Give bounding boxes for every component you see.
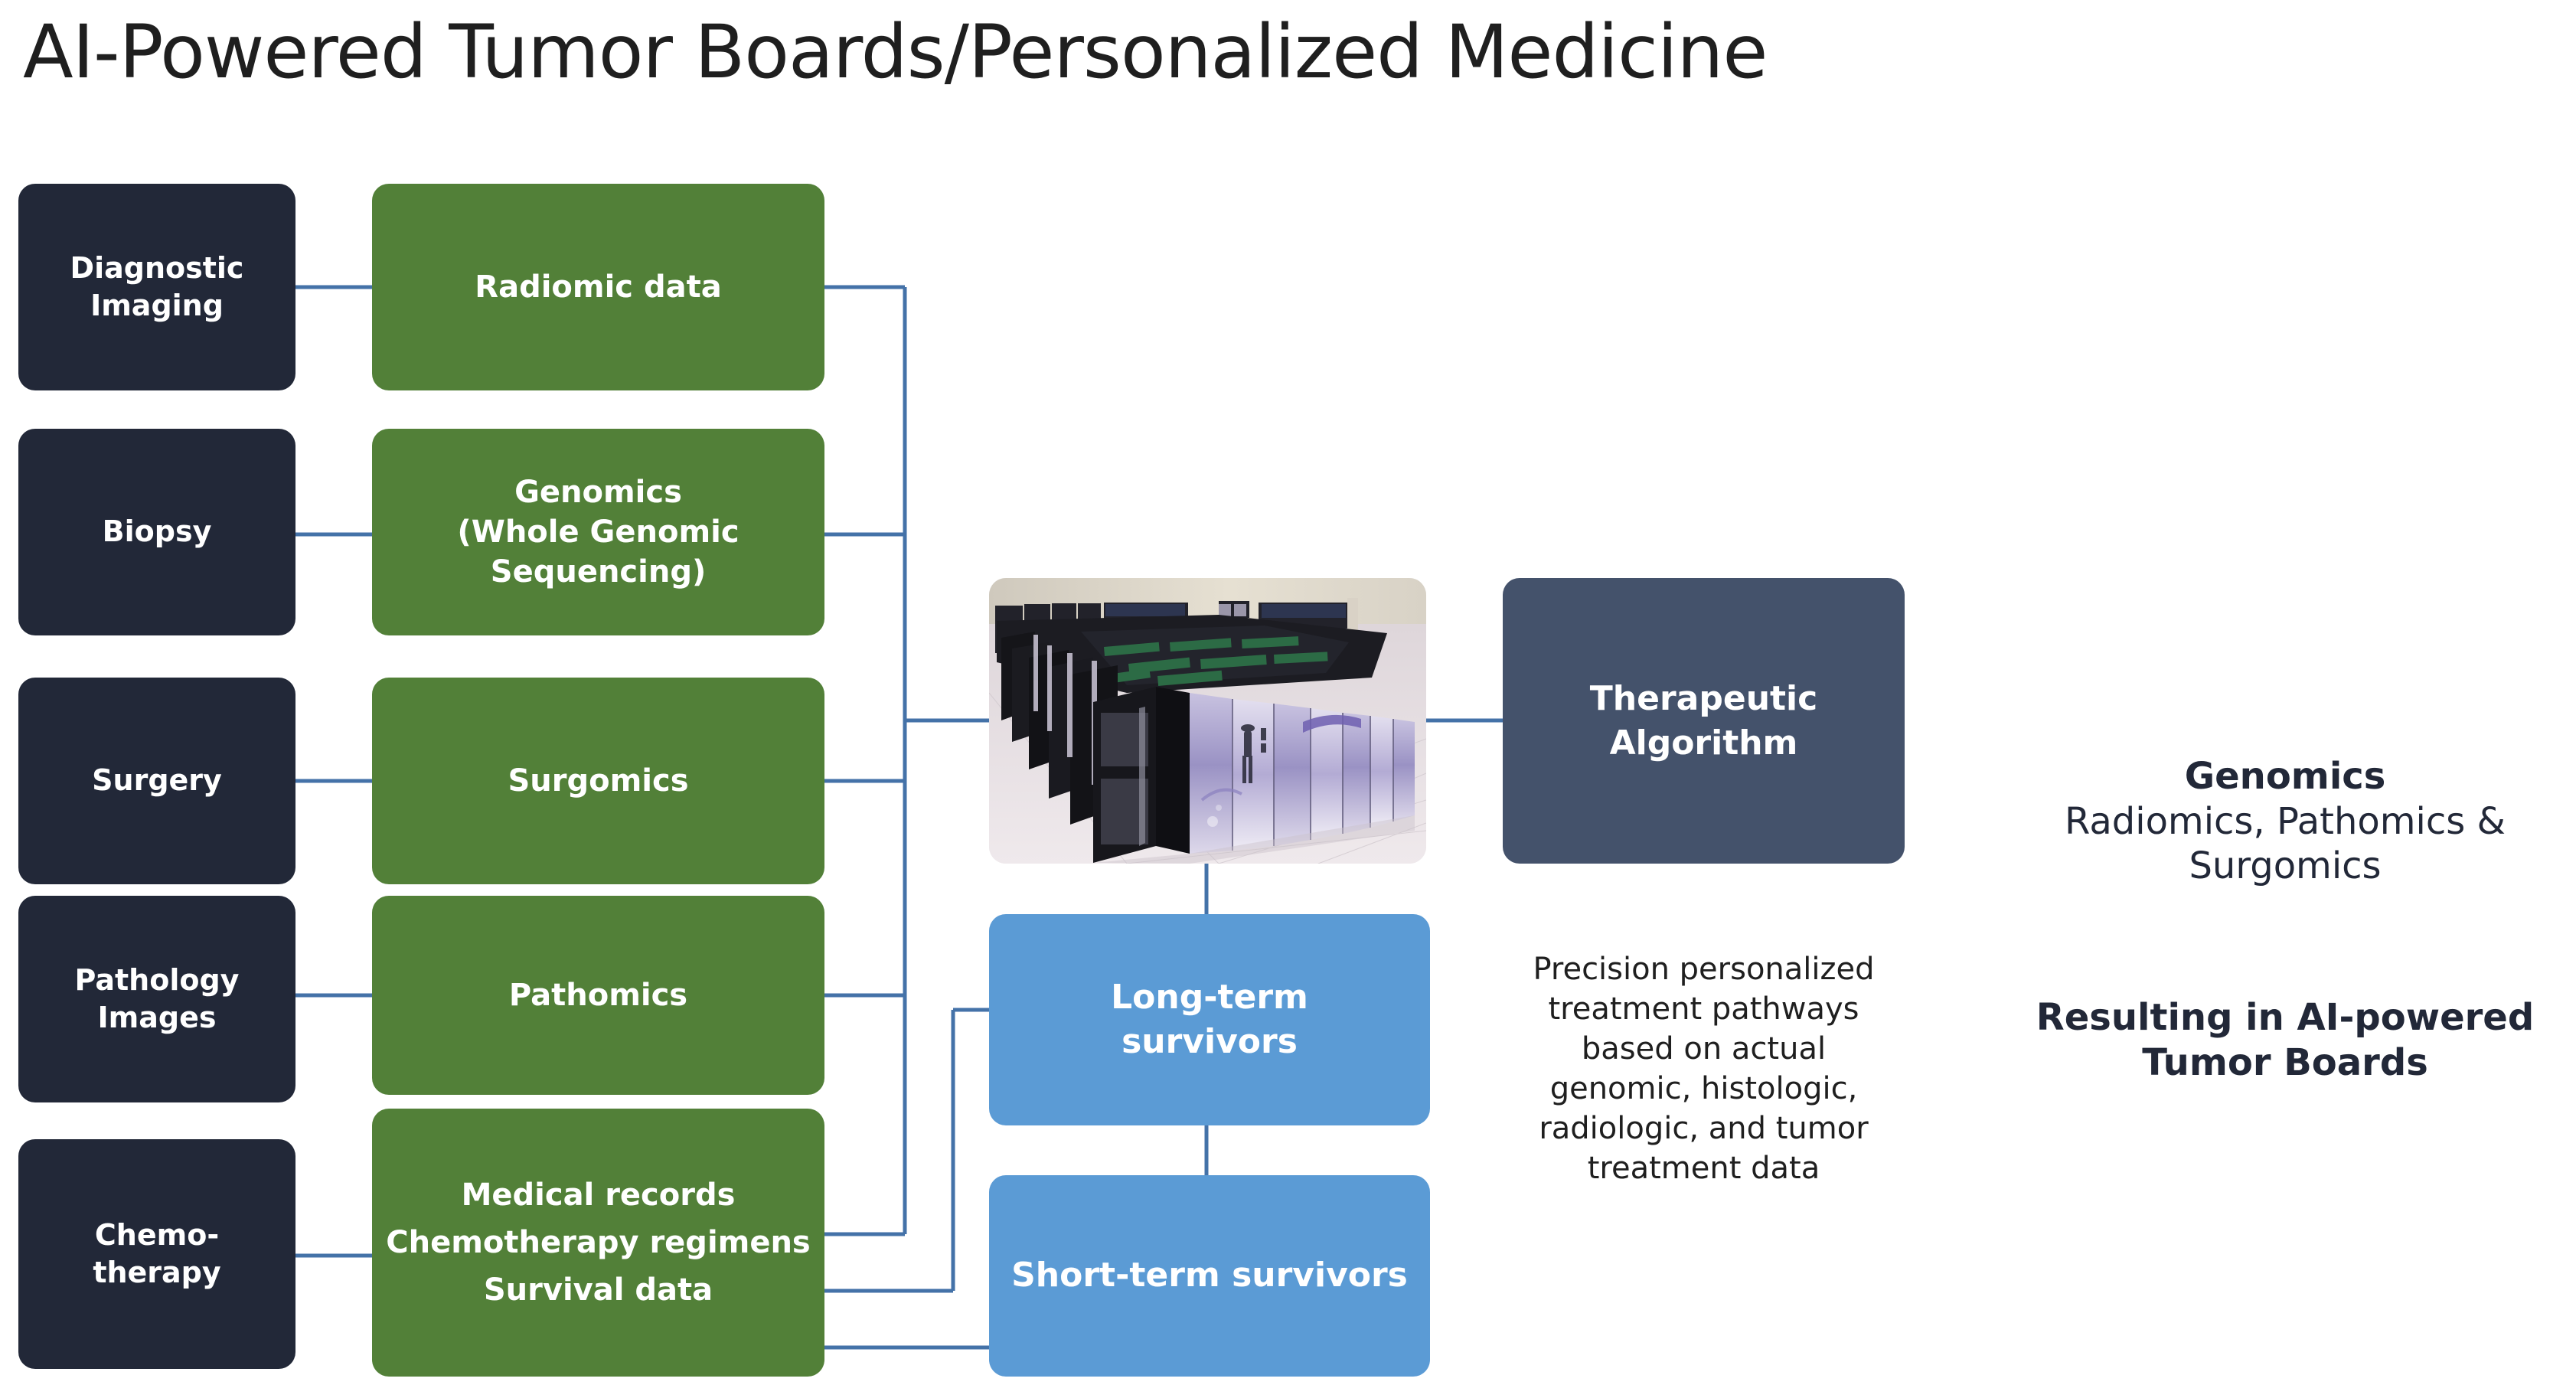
summary-block-result: Resulting in AI-powered Tumor Boards [2006, 995, 2565, 1085]
source-label-line: Pathology [29, 962, 285, 999]
data-box-medical-records[interactable]: Medical records Chemotherapy regimens Su… [372, 1109, 824, 1377]
data-box-surgomics[interactable]: Surgomics [372, 678, 824, 884]
summary-line: Genomics [2006, 754, 2565, 799]
source-label-line: Biopsy [29, 513, 285, 550]
data-label-line: Chemotherapy regimens [383, 1219, 814, 1266]
slide-canvas: AI-Powered Tumor Boards/Personalized Med… [0, 0, 2576, 1398]
outcome-label-line: Short-term survivors [1000, 1253, 1419, 1298]
data-box-radiomic-data[interactable]: Radiomic data [372, 184, 824, 390]
outcome-box-short-term-survivors[interactable]: Short-term survivors [989, 1175, 1430, 1377]
caption-line: Precision personalized [1503, 949, 1905, 989]
caption-line: genomic, histologic, [1503, 1069, 1905, 1109]
precision-caption: Precision personalized treatment pathway… [1503, 949, 1905, 1188]
source-label-line: therapy [29, 1254, 285, 1292]
data-label-line: Medical records [383, 1171, 814, 1219]
source-label-line: Images [29, 999, 285, 1037]
caption-line: treatment data [1503, 1148, 1905, 1188]
summary-line: Radiomics, Pathomics & [2006, 799, 2565, 844]
algorithm-label-line: Therapeutic [1513, 677, 1894, 720]
summary-block-omics: Genomics Radiomics, Pathomics & Surgomic… [2006, 754, 2565, 889]
data-box-genomics[interactable]: Genomics (Whole Genomic Sequencing) [372, 429, 824, 635]
source-label-line: Surgery [29, 762, 285, 799]
algorithm-label-line: Algorithm [1513, 721, 1894, 765]
page-title: AI-Powered Tumor Boards/Personalized Med… [23, 15, 1767, 89]
data-label-line: Pathomics [383, 975, 814, 1015]
source-box-surgery[interactable]: Surgery [18, 678, 295, 884]
outcome-label-line: Long-term [1000, 975, 1419, 1020]
caption-line: treatment pathways [1503, 989, 1905, 1029]
data-box-pathomics[interactable]: Pathomics [372, 896, 824, 1095]
source-label-line: Imaging [29, 287, 285, 325]
source-box-biopsy[interactable]: Biopsy [18, 429, 295, 635]
source-box-pathology-images[interactable]: Pathology Images [18, 896, 295, 1102]
caption-line: based on actual [1503, 1029, 1905, 1069]
data-label-line: Surgomics [383, 761, 814, 801]
outcome-box-long-term-survivors[interactable]: Long-term survivors [989, 914, 1430, 1125]
supercomputer-image [989, 578, 1426, 864]
source-box-chemotherapy[interactable]: Chemo- therapy [18, 1139, 295, 1369]
data-label-line: Sequencing) [383, 552, 814, 592]
data-label-line: Survival data [383, 1266, 814, 1314]
summary-line: Tumor Boards [2006, 1040, 2565, 1086]
therapeutic-algorithm-box[interactable]: Therapeutic Algorithm [1503, 578, 1905, 864]
source-label-line: Chemo- [29, 1217, 285, 1254]
data-label-line: (Whole Genomic [383, 512, 814, 552]
data-label-line: Radiomic data [383, 267, 814, 307]
source-label-line: Diagnostic [29, 250, 285, 287]
summary-line: Resulting in AI-powered [2006, 995, 2565, 1040]
data-label-line: Genomics [383, 472, 814, 512]
summary-line: Surgomics [2006, 844, 2565, 889]
caption-line: radiologic, and tumor [1503, 1109, 1905, 1148]
outcome-label-line: survivors [1000, 1020, 1419, 1064]
supercomputer-photo [989, 578, 1426, 864]
source-box-diagnostic-imaging[interactable]: Diagnostic Imaging [18, 184, 295, 390]
